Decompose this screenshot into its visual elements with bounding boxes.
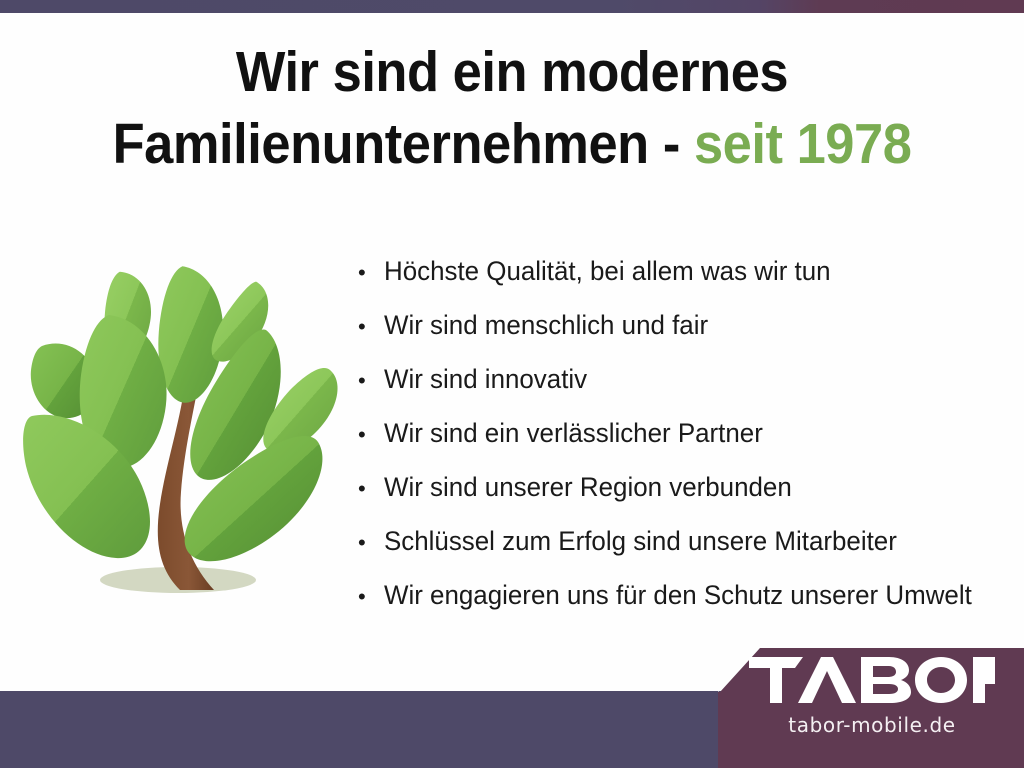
list-item: • Schlüssel zum Erfolg sind unsere Mitar… — [358, 514, 1018, 568]
bullet-marker-icon: • — [358, 246, 384, 300]
logo-letter-b — [861, 657, 911, 703]
list-item: • Wir sind innovativ — [358, 352, 1018, 406]
headline-line-2-plain: Familienunternehmen - — [113, 112, 694, 176]
bullet-marker-icon: • — [358, 570, 384, 624]
list-item: • Höchste Qualität, bei allem was wir tu… — [358, 244, 1018, 298]
list-item: • Wir sind ein verlässlicher Partner — [358, 406, 1018, 460]
list-item-label: Wir sind menschlich und fair — [384, 298, 708, 352]
tree-graphic — [18, 258, 358, 618]
logo-letter-t — [749, 657, 803, 703]
headline-line-2: Familienunternehmen - seit 1978 — [41, 108, 983, 180]
logo-letter-a — [798, 657, 856, 703]
headline-line-1: Wir sind ein modernes — [41, 36, 983, 108]
list-item: • Wir engagieren uns für den Schutz unse… — [358, 568, 1018, 622]
logo-tagline: tabor-mobile.de — [742, 713, 1002, 737]
logo-letter-o — [915, 657, 967, 703]
page-title: Wir sind ein modernes Familienunternehme… — [41, 36, 983, 180]
brand-logo[interactable]: tabor-mobile.de — [742, 657, 1002, 737]
headline-accent-seit-1978: seit 1978 — [694, 112, 911, 176]
top-accent-bar — [0, 0, 1024, 13]
bullet-marker-icon: • — [358, 462, 384, 516]
list-item: • Wir sind menschlich und fair — [358, 298, 1018, 352]
list-item-label: Wir sind ein verlässlicher Partner — [384, 406, 763, 460]
bullet-marker-icon: • — [358, 408, 384, 462]
bullet-marker-icon: • — [358, 300, 384, 354]
value-bullet-list: • Höchste Qualität, bei allem was wir tu… — [358, 244, 1018, 622]
list-item-label: Wir sind unserer Region verbunden — [384, 460, 792, 514]
bullet-marker-icon: • — [358, 516, 384, 570]
tabor-wordmark-icon — [749, 657, 995, 703]
tree-illustration — [18, 258, 358, 618]
list-item-label: Wir sind innovativ — [384, 352, 587, 406]
footer-bar: tabor-mobile.de — [0, 645, 1024, 768]
slide-canvas: Wir sind ein modernes Familienunternehme… — [0, 0, 1024, 768]
bullet-marker-icon: • — [358, 354, 384, 408]
logo-letter-r-bowl — [985, 657, 995, 684]
list-item: • Wir sind unserer Region verbunden — [358, 460, 1018, 514]
list-item-label: Schlüssel zum Erfolg sind unsere Mitarbe… — [384, 514, 897, 568]
list-item-label: Wir engagieren uns für den Schutz unsere… — [384, 568, 972, 622]
list-item-label: Höchste Qualität, bei allem was wir tun — [384, 244, 831, 298]
